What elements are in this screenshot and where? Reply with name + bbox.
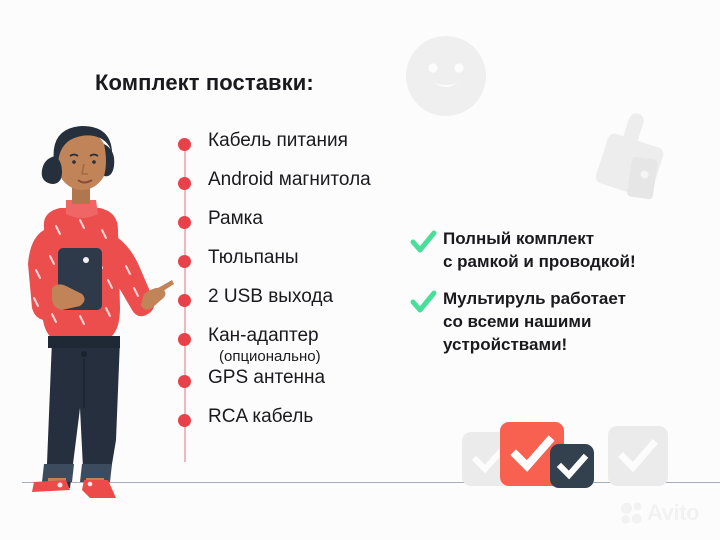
benefits-list: Полный комплект с рамкой и проводкой! Му… [410, 228, 710, 371]
bullet-dot-icon [178, 177, 191, 190]
list-item: Android магнитола [178, 169, 438, 208]
list-item-label: 2 USB выхода [208, 284, 333, 309]
woman-pointing-illustration [8, 108, 188, 498]
benefit-label: Мультируль работает со всеми нашими устр… [443, 288, 626, 357]
list-item: RCA кабель [178, 406, 438, 445]
bullet-dot-icon [178, 216, 191, 229]
list-item-label: GPS антенна [208, 365, 325, 390]
checkbox-dark [550, 444, 594, 488]
checkbox-cluster [462, 418, 702, 490]
list-item-label: Кабель питания [208, 128, 348, 153]
page-title: Комплект поставки: [95, 70, 314, 96]
avito-logo-icon [620, 501, 644, 525]
list-item: Кан-адаптер (опционально) [178, 325, 438, 367]
bullet-dot-icon [178, 375, 191, 388]
list-item-label: Рамка [208, 206, 263, 231]
bullet-dot-icon [178, 333, 191, 346]
check-mark-icon [410, 289, 437, 316]
list-item: Тюльпаны [178, 247, 438, 286]
list-item-label: RCA кабель [208, 404, 313, 429]
smiley-face-icon [405, 35, 487, 117]
list-item: Рамка [178, 208, 438, 247]
list-item: Кабель питания [178, 130, 438, 169]
avito-wordmark: Avito [647, 502, 699, 524]
thumbs-up-icon [578, 100, 688, 210]
bullet-dot-icon [178, 255, 191, 268]
checkbox-gray-right [608, 426, 668, 486]
bullet-dot-icon [178, 138, 191, 151]
benefit-label: Полный комплект с рамкой и проводкой! [443, 228, 636, 274]
check-mark-icon [410, 229, 437, 256]
slide-canvas: Комплект поставки: Кабель питания Androi… [0, 0, 720, 540]
list-item: 2 USB выхода [178, 286, 438, 325]
list-item-label: Кан-адаптер [208, 323, 321, 348]
list-item-label: Тюльпаны [208, 245, 299, 270]
bullet-dot-icon [178, 294, 191, 307]
benefit-item: Полный комплект с рамкой и проводкой! [410, 228, 710, 274]
list-item-label: Android магнитола [208, 167, 371, 192]
bullet-dot-icon [178, 414, 191, 427]
avito-watermark: Avito [620, 500, 716, 526]
list-item: GPS антенна [178, 367, 438, 406]
package-contents-list: Кабель питания Android магнитола Рамка Т… [178, 130, 438, 445]
benefit-item: Мультируль работает со всеми нашими устр… [410, 288, 710, 357]
